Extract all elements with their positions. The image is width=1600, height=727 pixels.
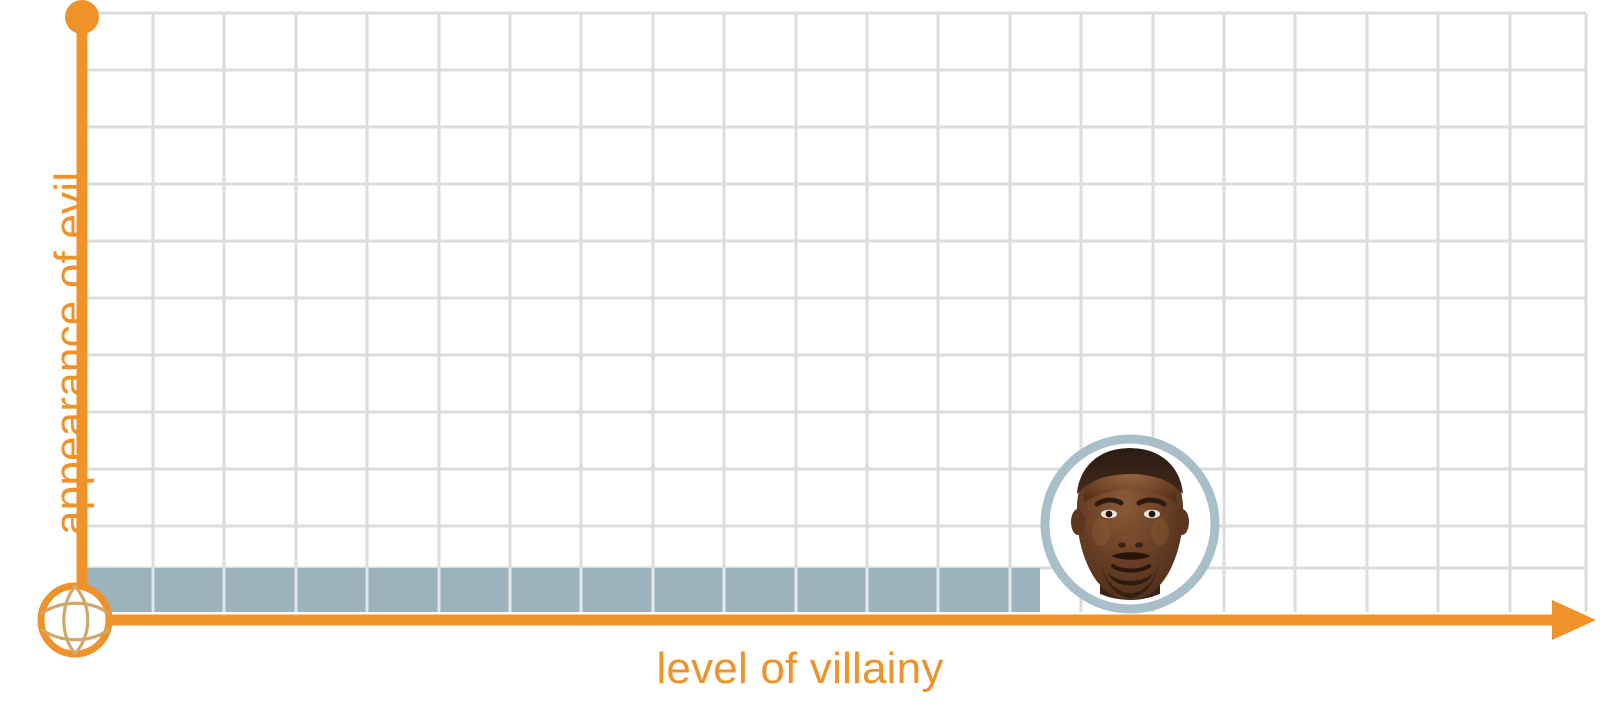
y-axis-cap-dot: [65, 0, 99, 34]
baseline-band-bar: [82, 568, 1040, 612]
x-axis-arrow-icon: [1552, 600, 1596, 640]
chart-gridlines: [82, 13, 1586, 612]
data-point-kevin-durant[interactable]: [1045, 439, 1215, 609]
chart-canvas: level of villainy appearance of evil: [0, 0, 1600, 727]
chart-figure: [0, 0, 1600, 727]
x-axis-label: level of villainy: [0, 644, 1600, 694]
y-axis-label: appearance of evil: [46, 75, 98, 535]
